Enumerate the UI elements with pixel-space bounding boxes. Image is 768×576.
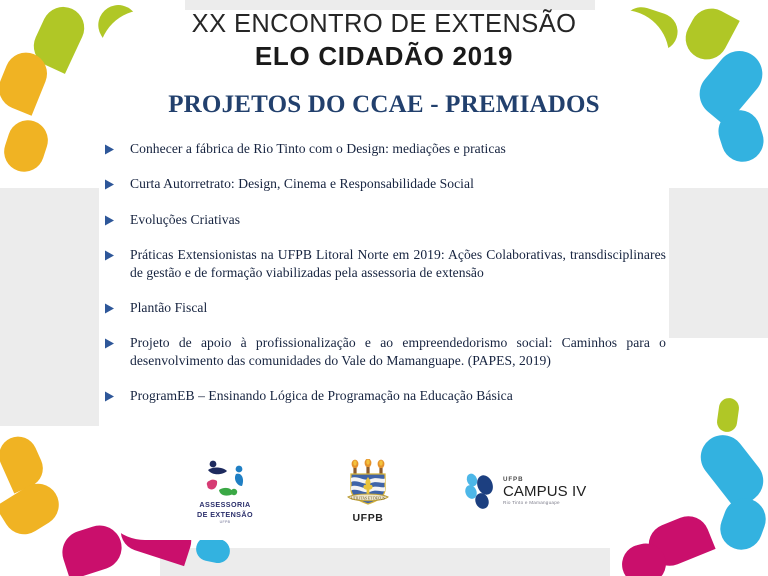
campus-iv-sub-label: Rio Tinto e Mamanguape [503, 501, 586, 506]
slide-header: XX ENCONTRO DE EXTENSÃO ELO CIDADÃO 2019… [99, 2, 669, 119]
triangle-right-bullet-icon [104, 246, 130, 261]
logo-row: ASSESSORIA DE EXTENSÃO UFPB [99, 452, 669, 530]
campus-iv-logo: UFPB CAMPUS IV Rio Tinto e Mamanguape [463, 472, 591, 510]
list-item: ProgramEB – Ensinando Lógica de Programa… [104, 387, 666, 404]
svg-text:UTILITAS ET DECUS: UTILITAS ET DECUS [351, 496, 385, 500]
campus-iv-wordmark: UFPB CAMPUS IV Rio Tinto e Mamanguape [503, 477, 586, 506]
page-title: PROJETOS DO CCAE - PREMIADOS [99, 91, 669, 120]
petal-right-green-small [716, 397, 741, 433]
triangle-right-bullet-icon [104, 175, 130, 190]
backdrop-band-left [0, 188, 108, 426]
backdrop-band-right [660, 188, 768, 338]
campus-iv-top-label: UFPB [503, 477, 586, 483]
event-title-line-1: XX ENCONTRO DE EXTENSÃO [99, 10, 669, 38]
list-item: Projeto de apoio à profissionalização e … [104, 334, 666, 369]
assessoria-caption-line-2: DE EXTENSÃO [177, 511, 273, 519]
assessoria-caption-line-1: ASSESSORIA [177, 501, 273, 509]
list-item: Curta Autorretrato: Design, Cinema e Res… [104, 175, 666, 192]
ufpb-crest-icon: UTILITAS ET DECUS [331, 459, 405, 511]
triangle-right-bullet-icon [104, 211, 130, 226]
assessoria-caption-sub: UFPB [177, 520, 273, 524]
presentation-slide: XX ENCONTRO DE EXTENSÃO ELO CIDADÃO 2019… [0, 0, 768, 576]
triangle-right-bullet-icon [104, 387, 130, 402]
list-item-label: Práticas Extensionistas na UFPB Litoral … [130, 246, 666, 281]
list-item-label: Projeto de apoio à profissionalização e … [130, 334, 666, 369]
campus-iv-main-label: CAMPUS IV [503, 484, 586, 499]
event-title-line-2: ELO CIDADÃO 2019 [99, 40, 669, 73]
campus-iv-petals-icon [463, 472, 497, 510]
triangle-right-bullet-icon [104, 140, 130, 155]
assessoria-de-extensao-logo-icon [177, 458, 273, 500]
ufpb-caption: UFPB [331, 512, 405, 524]
list-item-label: ProgramEB – Ensinando Lógica de Programa… [130, 387, 666, 404]
list-item-label: Curta Autorretrato: Design, Cinema e Res… [130, 175, 666, 192]
assessoria-extensao-logo: ASSESSORIA DE EXTENSÃO UFPB [177, 458, 273, 523]
projects-list: Conhecer a fábrica de Rio Tinto com o De… [104, 140, 666, 423]
list-item-label: Evoluções Criativas [130, 211, 666, 228]
list-item: Evoluções Criativas [104, 211, 666, 228]
list-item-label: Plantão Fiscal [130, 299, 666, 316]
petal-top-left-yellow-2 [0, 115, 53, 177]
list-item: Práticas Extensionistas na UFPB Litoral … [104, 246, 666, 281]
petal-bottom-right-cyan-1 [692, 426, 768, 511]
petal-bottom-right-cyan-2 [714, 492, 768, 555]
list-item: Conhecer a fábrica de Rio Tinto com o De… [104, 140, 666, 157]
triangle-right-bullet-icon [104, 299, 130, 314]
list-item-label: Conhecer a fábrica de Rio Tinto com o De… [130, 140, 666, 157]
triangle-right-bullet-icon [104, 334, 130, 349]
ufpb-logo: UTILITAS ET DECUS UFPB [331, 459, 405, 524]
list-item: Plantão Fiscal [104, 299, 666, 316]
